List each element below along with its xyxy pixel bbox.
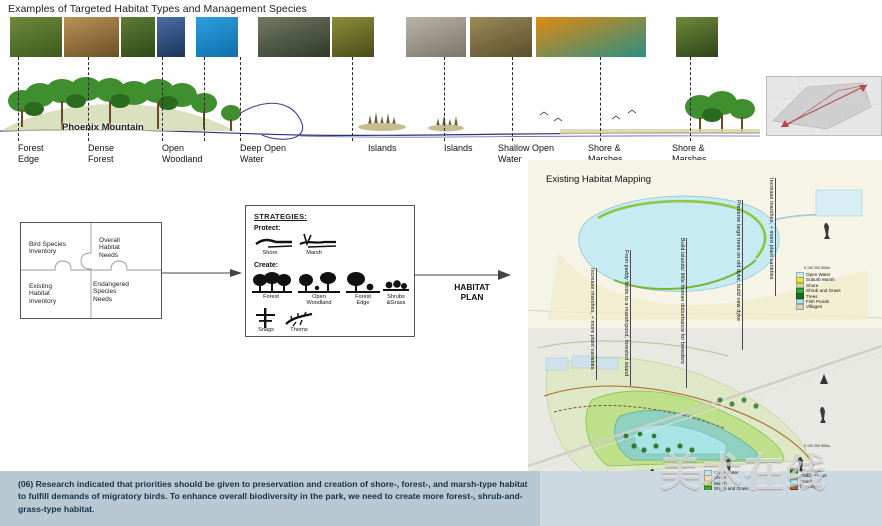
habitat-label: DenseForest	[88, 143, 114, 164]
phoenix-mountain-label: Phoenix Mountain	[62, 122, 144, 133]
legend-label: Villages	[806, 304, 822, 309]
legend-swatch	[796, 304, 804, 310]
photo-stork	[406, 17, 466, 57]
annotation-leader-line	[775, 178, 776, 296]
puzzle-label-bird-species: Bird SpeciesInventory	[29, 241, 66, 256]
process-diagram: Bird SpeciesInventory OverallHabitatNeed…	[0, 200, 530, 350]
leader-line	[162, 57, 163, 141]
puzzle-label-existing-habitat: ExistingHabitatInventory	[29, 283, 56, 305]
leader-line	[352, 57, 353, 141]
leader-line	[204, 57, 205, 141]
arrow-puzzle-to-strategies	[162, 266, 244, 280]
photo-dragonfly	[332, 17, 374, 57]
arrow-strategies-to-plan	[414, 268, 514, 282]
strategies-protect-label: Protect:	[254, 225, 280, 232]
map-graphic	[528, 160, 882, 490]
snags-icon	[254, 308, 278, 328]
photo-forest-canopy	[10, 17, 62, 57]
leader-line	[88, 57, 89, 141]
strategy-caption-snags: Snags	[248, 327, 284, 333]
puzzle-label-overall-habitat: OverallHabitatNeeds	[99, 237, 120, 259]
poster-page: Examples of Targeted Habitat Types and M…	[0, 0, 882, 526]
forest-edge-icon	[346, 272, 380, 294]
map-scale-bottom: 0 100 200 500m	[804, 444, 830, 448]
photo-open-water	[196, 17, 238, 57]
forest-icon	[252, 272, 292, 294]
photo-kingfisher	[157, 17, 185, 57]
photo-fish	[258, 17, 330, 57]
puzzle-label-endangered-species: EndangeredSpeciesNeeds	[93, 281, 129, 303]
inset-location-map	[766, 76, 882, 136]
map-annotation: Preserve large trees on old dyke, build …	[735, 200, 741, 321]
photo-owl-burrow	[64, 17, 119, 57]
puzzle-diagram: Bird SpeciesInventory OverallHabitatNeed…	[20, 222, 162, 319]
map-annotation: Increase marshes, + more plant varieties	[768, 178, 774, 280]
habitat-label: OpenWoodland	[162, 143, 202, 164]
legend-row: Villages	[796, 304, 841, 309]
strategy-caption-shrubs-grass: Shrubs&Grass	[379, 294, 413, 306]
leader-line	[18, 57, 19, 141]
shrubs-grass-icon	[383, 278, 409, 294]
shore-icon	[254, 234, 294, 250]
annotation-leader-line	[686, 238, 687, 388]
leader-line	[240, 57, 241, 141]
caption-text: (06) Research indicated that priorities …	[18, 478, 538, 515]
leader-line	[512, 57, 513, 141]
legend-swatch	[790, 489, 798, 490]
map-title: Existing Habitat Mapping	[546, 174, 651, 185]
map-scale-top: 0 100 200 500m	[804, 266, 830, 270]
map-legend-top: Open WaterSuburb MarshShoreShrub and Gra…	[796, 272, 841, 310]
open-woodland-icon	[298, 272, 340, 294]
strategy-caption-marsh: Marsh	[294, 250, 334, 256]
habitat-label: ForestEdge	[18, 143, 44, 164]
caption-bar: (06) Research indicated that priorities …	[0, 471, 882, 526]
map-legend-bottom-right: WoodlandPaddy FieldsPondsNew DykeOld Dyk…	[790, 468, 827, 490]
leader-line	[690, 57, 691, 141]
photo-strip	[0, 17, 882, 57]
strategy-caption-forest: Forest	[248, 294, 294, 300]
habitat-label: Islands	[368, 143, 397, 154]
annotation-leader-line	[630, 250, 631, 386]
annotation-leader-line	[596, 268, 597, 380]
existing-habitat-map[interactable]: Existing Habitat Mapping 0 100 200 500m …	[528, 160, 882, 490]
strategy-caption-thorns: Thorns	[280, 327, 318, 333]
annotation-leader-line	[742, 200, 743, 350]
strategy-caption-shore: Shore	[252, 250, 288, 256]
thorns-icon	[284, 310, 314, 328]
legend-row: Shrub and Grass	[704, 486, 749, 490]
strategies-create-label: Create:	[254, 262, 278, 269]
map-annotation: Build islands/ little human disturbance …	[679, 238, 685, 364]
habitat-plan-label: HABITATPLAN	[437, 282, 507, 302]
strategies-title: STRATEGIES:	[254, 212, 307, 221]
marsh-icon	[298, 232, 338, 250]
habitat-label: Islands	[444, 143, 473, 154]
legend-swatch	[704, 486, 712, 490]
photo-nest	[470, 17, 532, 57]
leader-line	[444, 57, 445, 141]
habitat-label: Deep OpenWater	[240, 143, 286, 164]
photo-woodland	[121, 17, 155, 57]
photo-shorebirds	[536, 17, 646, 57]
strategies-box: STRATEGIES: Protect: Shore Marsh Create:	[245, 205, 415, 337]
map-annotation: From paddy fields to a marsh/pond, fores…	[623, 250, 629, 376]
map-annotation: Increase marshes, + more plant varieties	[589, 268, 595, 370]
strategy-caption-forest-edge: ForestEdge	[344, 294, 382, 306]
map-legend-bottom-left: Open WaterShoreMarshShrub and Grass	[704, 470, 749, 490]
legend-label: Shrub and Grass	[714, 486, 749, 490]
photo-perching-bird	[676, 17, 718, 57]
strategy-caption-open-woodland: OpenWoodland	[296, 294, 342, 306]
page-title: Examples of Targeted Habitat Types and M…	[8, 3, 307, 15]
leader-line	[600, 57, 601, 141]
